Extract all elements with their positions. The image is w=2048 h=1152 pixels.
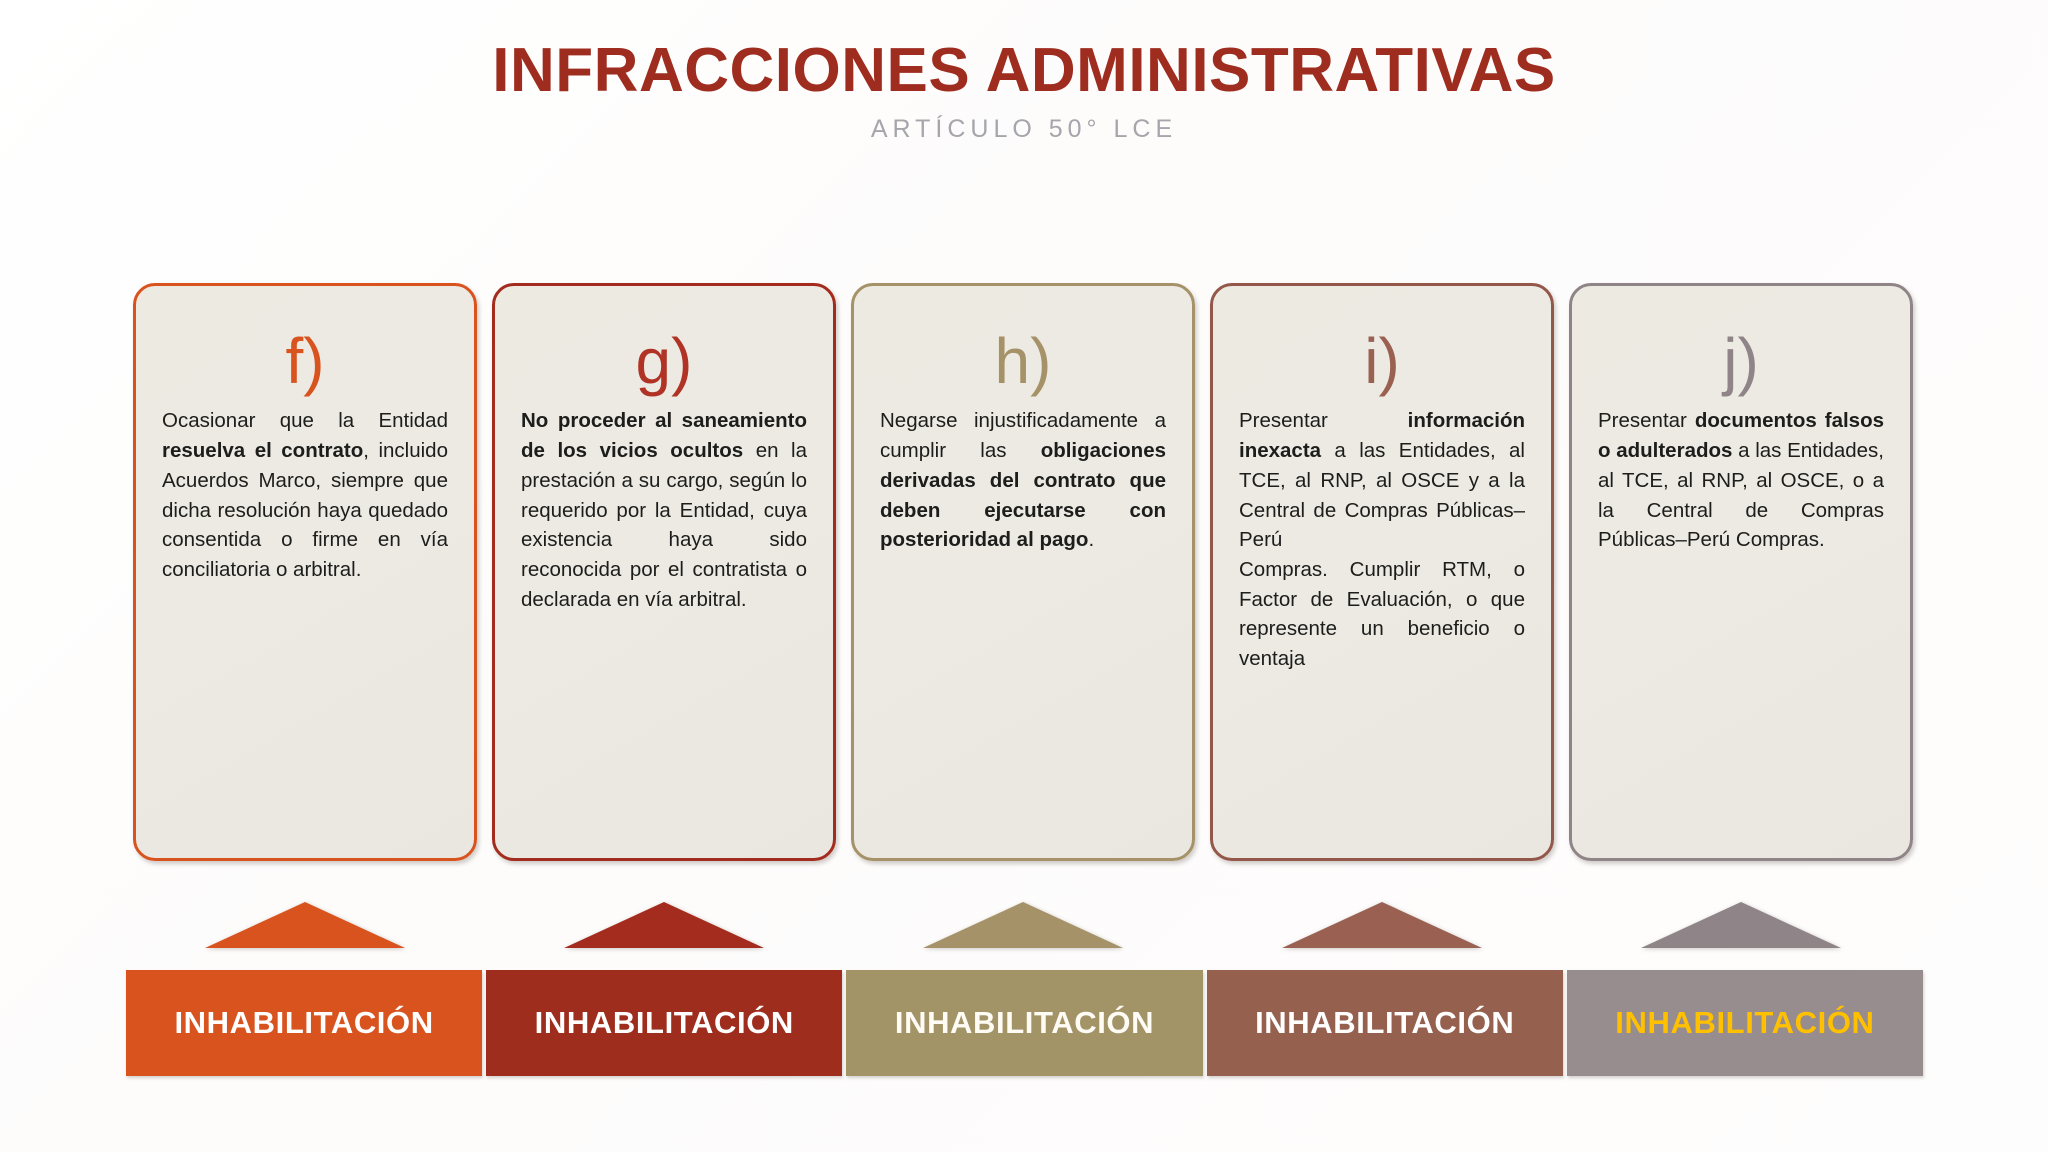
- infraction-card-i[interactable]: i) Presentar información inexacta a las …: [1210, 283, 1554, 861]
- sanction-banner-label: INHABILITACIÓN: [535, 1005, 794, 1041]
- sanction-banner-i[interactable]: INHABILITACIÓN: [1207, 970, 1563, 1076]
- card-text-h: Negarse injustificadamente a cumplir las…: [880, 406, 1166, 555]
- up-arrow-icon: [205, 902, 405, 948]
- sanction-banner-h[interactable]: INHABILITACIÓN: [846, 970, 1202, 1076]
- page-title: INFRACCIONES ADMINISTRATIVAS: [0, 38, 2048, 103]
- up-arrow-icon: [564, 902, 764, 948]
- infraction-cards-row: f) Ocasionar que la Entidad resuelva el …: [133, 283, 1923, 861]
- card-text-j: Presentar documentos falsos o adulterado…: [1598, 406, 1884, 555]
- card-text-i: Presentar información inexacta a las Ent…: [1239, 406, 1525, 673]
- infraction-card-h[interactable]: h) Negarse injustificadamente a cumplir …: [851, 283, 1195, 861]
- up-arrow-icon: [923, 902, 1123, 948]
- card-letter-h: h): [880, 326, 1166, 396]
- sanction-banner-j[interactable]: INHABILITACIÓN: [1567, 970, 1923, 1076]
- sanction-banner-g[interactable]: INHABILITACIÓN: [486, 970, 842, 1076]
- card-letter-i: i): [1239, 326, 1525, 396]
- slide-header: INFRACCIONES ADMINISTRATIVAS ARTÍCULO 50…: [0, 38, 2048, 144]
- sanction-banner-f[interactable]: INHABILITACIÓN: [126, 970, 482, 1076]
- sanction-banner-label: INHABILITACIÓN: [1255, 1005, 1514, 1041]
- arrow-slot-h: [851, 896, 1195, 948]
- sanction-banners-row: INHABILITACIÓN INHABILITACIÓN INHABILITA…: [126, 970, 1923, 1076]
- arrow-slot-j: [1569, 896, 1913, 948]
- card-letter-j: j): [1598, 326, 1884, 396]
- up-arrow-icon: [1282, 902, 1482, 948]
- infraction-card-g[interactable]: g) No proceder al saneamiento de los vic…: [492, 283, 836, 861]
- sanction-banner-label: INHABILITACIÓN: [895, 1005, 1154, 1041]
- card-text-g: No proceder al saneamiento de los vicios…: [521, 406, 807, 614]
- infraction-card-j[interactable]: j) Presentar documentos falsos o adulter…: [1569, 283, 1913, 861]
- arrow-slot-i: [1210, 896, 1554, 948]
- arrow-slot-g: [492, 896, 836, 948]
- card-letter-f: f): [162, 326, 448, 396]
- arrow-slot-f: [133, 896, 477, 948]
- card-text-f: Ocasionar que la Entidad resuelva el con…: [162, 406, 448, 584]
- infraction-card-f[interactable]: f) Ocasionar que la Entidad resuelva el …: [133, 283, 477, 861]
- sanction-banner-label: INHABILITACIÓN: [174, 1005, 433, 1041]
- up-arrow-icon: [1641, 902, 1841, 948]
- page-subtitle: ARTÍCULO 50° LCE: [0, 115, 2048, 144]
- sanction-banner-label: INHABILITACIÓN: [1615, 1005, 1874, 1041]
- card-letter-g: g): [521, 326, 807, 396]
- arrows-row: [133, 896, 1923, 948]
